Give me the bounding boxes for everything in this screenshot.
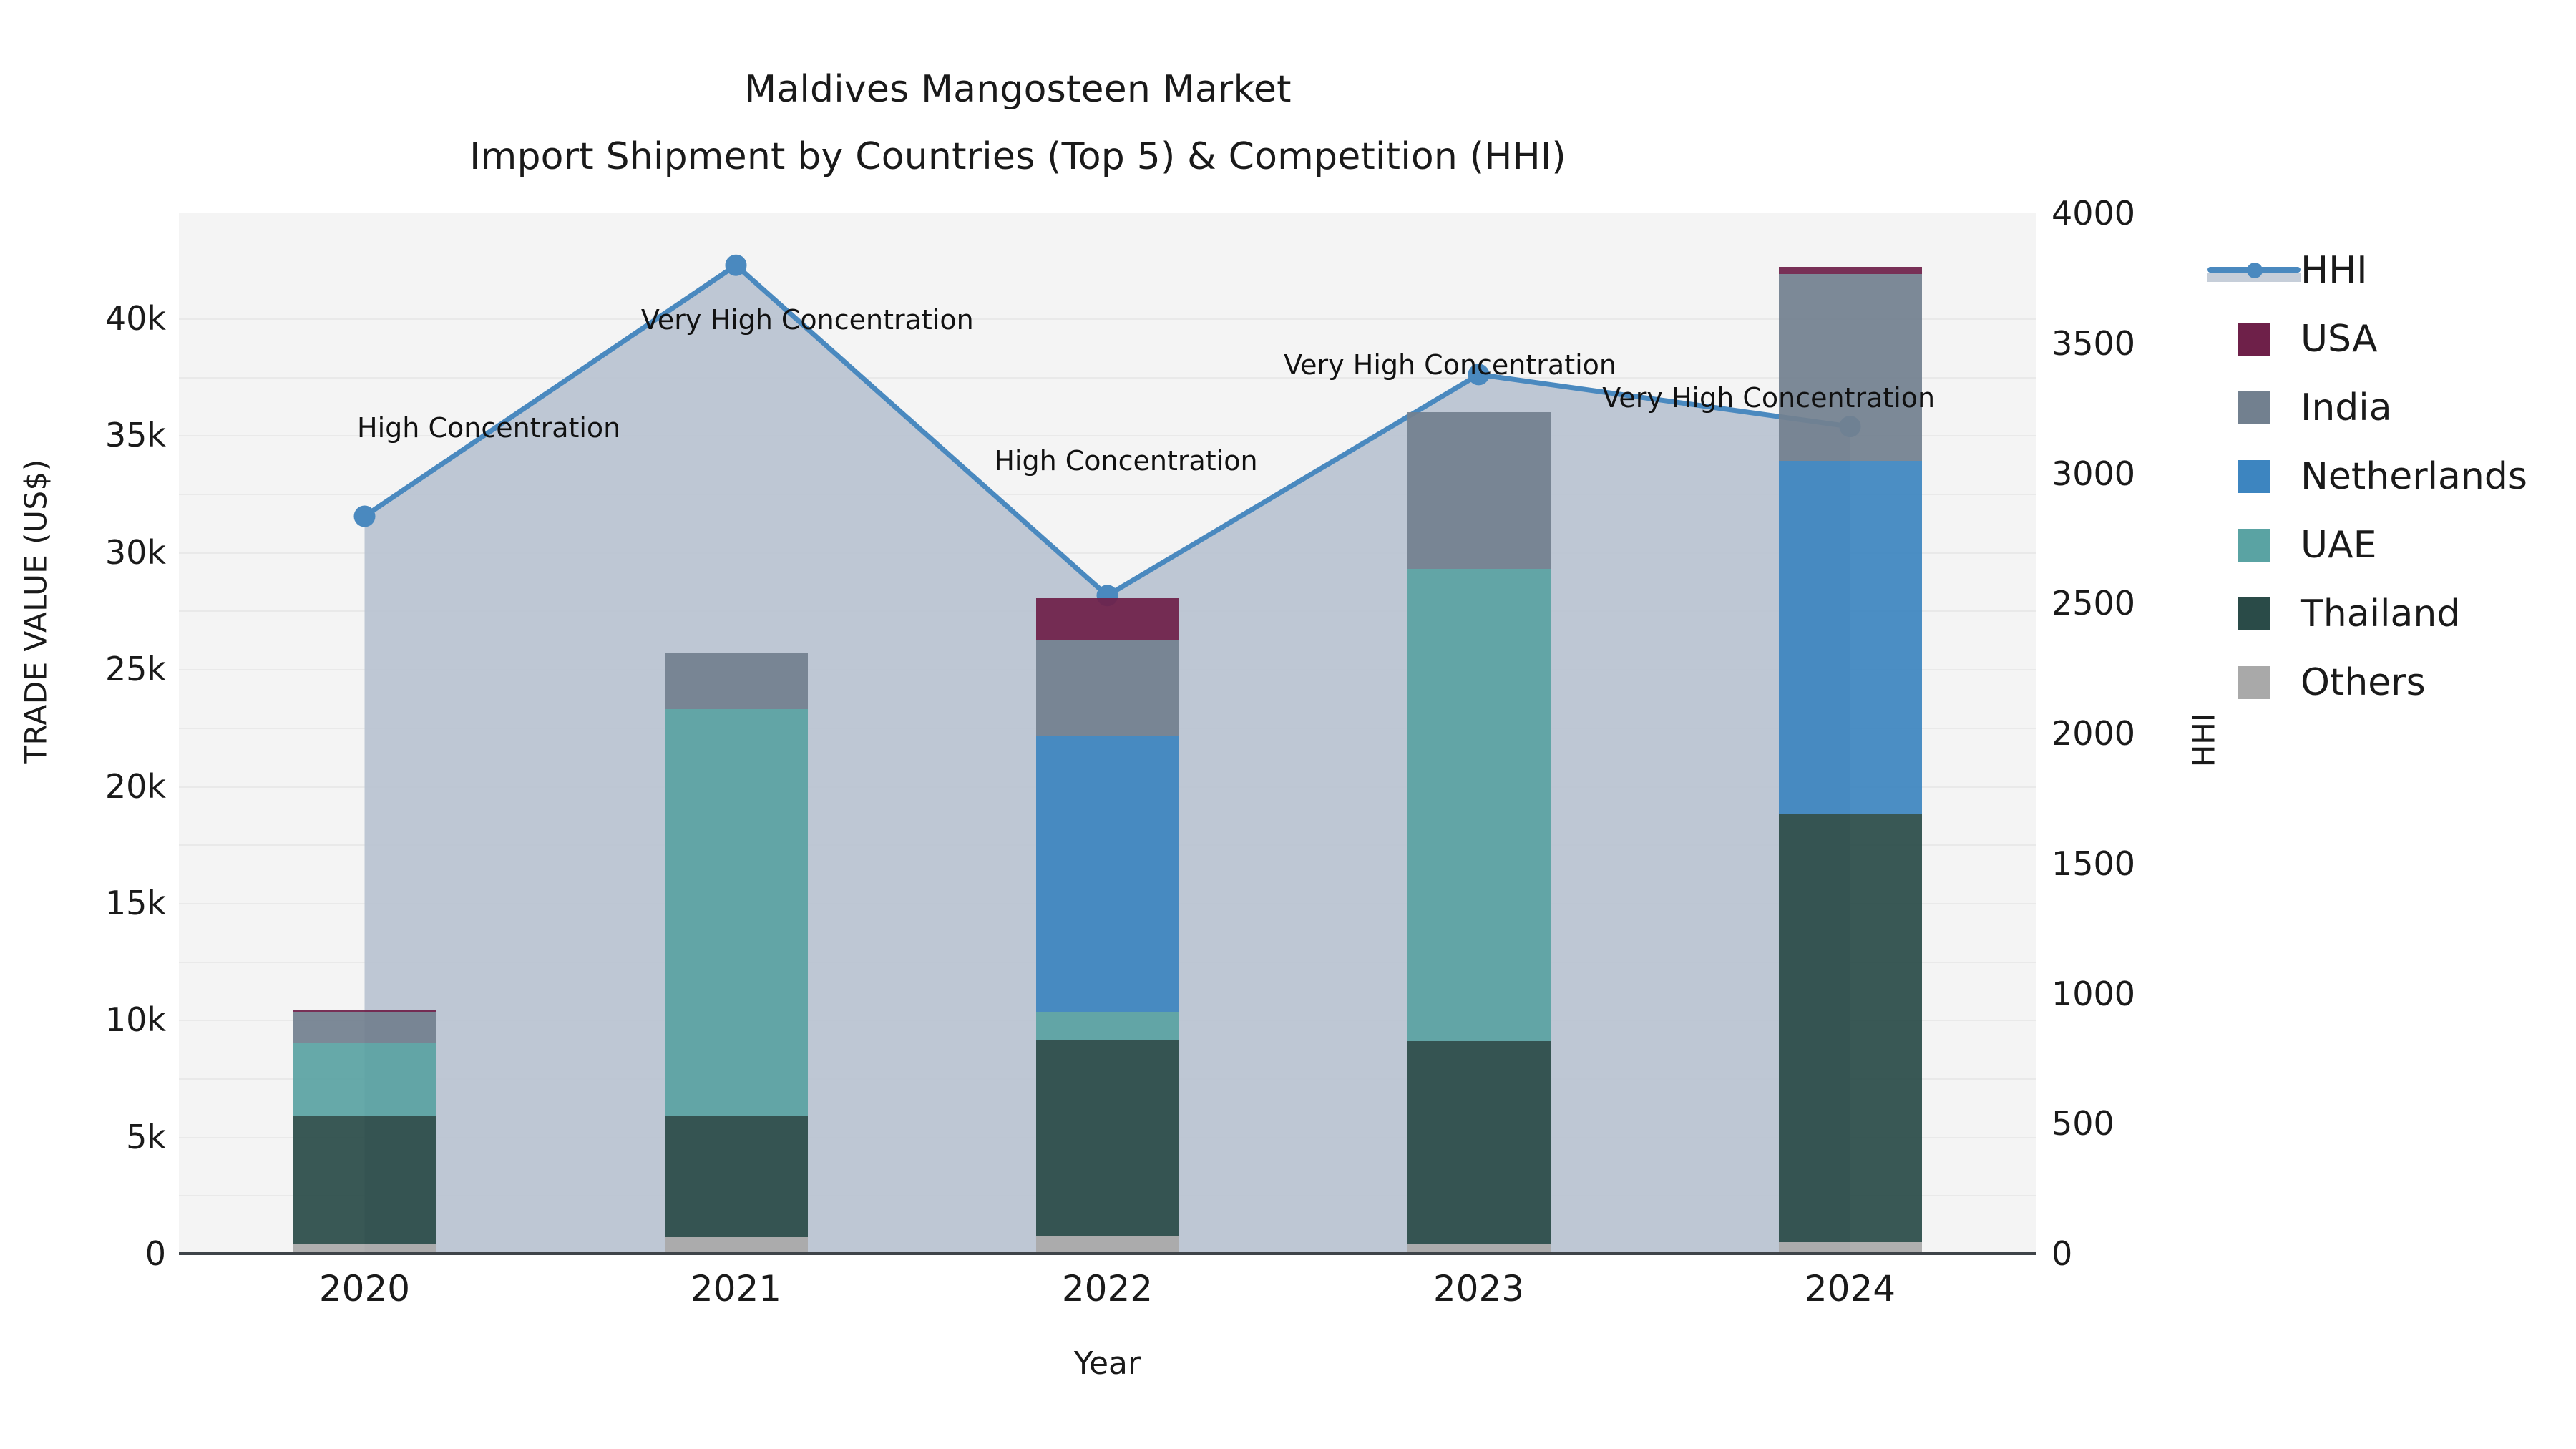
legend-label: UAE: [2301, 527, 2377, 564]
bar-segment-thailand[interactable]: [1779, 814, 1922, 1242]
y-axis-right-tick: 0: [2036, 1234, 2200, 1273]
x-axis-line: [179, 1252, 2036, 1255]
bar-segment-thailand[interactable]: [665, 1116, 808, 1237]
y-axis-left-tick: 15k: [14, 884, 179, 922]
color-swatch-icon: [2238, 323, 2270, 356]
bar-segment-uae[interactable]: [665, 709, 808, 1116]
annotation-label: High Concentration: [357, 412, 620, 444]
y-axis-right-tick: 4000: [2036, 194, 2200, 233]
y-axis-left-title: TRADE VALUE (US$): [19, 397, 54, 826]
bar-segment-usa[interactable]: [293, 1010, 436, 1012]
bar-segment-netherlands[interactable]: [1779, 461, 1922, 814]
bar-segment-uae[interactable]: [293, 1043, 436, 1116]
x-axis-tick-2023: 2023: [1372, 1268, 1586, 1309]
bar-segment-india[interactable]: [1036, 640, 1179, 736]
bar-segment-others[interactable]: [1036, 1236, 1179, 1254]
x-axis-tick-2020: 2020: [258, 1268, 472, 1309]
y-axis-right-tick: 3500: [2036, 324, 2200, 363]
color-swatch-icon: [2238, 460, 2270, 493]
bar-segment-india[interactable]: [293, 1012, 436, 1043]
legend-item-hhi[interactable]: HHI: [2207, 236, 2576, 305]
legend-label: Netherlands: [2301, 458, 2527, 495]
stacked-bars-layer: [179, 213, 2036, 1254]
legend-label: HHI: [2301, 252, 2368, 289]
y-axis-left-tick: 5k: [14, 1118, 179, 1156]
chart-legend: HHIUSAIndiaNetherlandsUAEThailandOthers: [2207, 236, 2576, 717]
color-swatch-icon: [2238, 391, 2270, 424]
bar-segment-india[interactable]: [1779, 274, 1922, 461]
y-axis-right-tick: 1500: [2036, 844, 2200, 883]
y-axis-left-tick: 40k: [14, 299, 179, 338]
legend-item-uae[interactable]: UAE: [2207, 511, 2576, 580]
chart-title-block: Maldives Mangosteen Market Import Shipme…: [0, 56, 2036, 190]
annotation-label: Very High Concentration: [641, 304, 974, 336]
legend-item-netherlands[interactable]: Netherlands: [2207, 442, 2576, 511]
bar-segment-thailand[interactable]: [1407, 1041, 1551, 1244]
annotation-label: Very High Concentration: [1284, 349, 1616, 381]
y-axis-right-tick: 2000: [2036, 714, 2200, 753]
legend-label: India: [2301, 389, 2392, 426]
x-axis-tick-2022: 2022: [1000, 1268, 1215, 1309]
bar-segment-netherlands[interactable]: [1036, 736, 1179, 1012]
bar-segment-uae[interactable]: [1036, 1012, 1179, 1040]
color-swatch-icon: [2238, 666, 2270, 699]
y-axis-left-tick: 0: [14, 1234, 179, 1273]
chart-title-primary: Maldives Mangosteen Market: [0, 56, 2036, 123]
stacked-bar-2024[interactable]: [1779, 213, 1922, 1254]
bar-segment-usa[interactable]: [1036, 598, 1179, 640]
bar-segment-thailand[interactable]: [1036, 1040, 1179, 1236]
chart-title-secondary: Import Shipment by Countries (Top 5) & C…: [0, 123, 2036, 190]
stacked-bar-2021[interactable]: [665, 213, 808, 1254]
y-axis-right-tick: 3000: [2036, 454, 2200, 493]
x-axis-title: Year: [179, 1345, 2036, 1382]
legend-label: Thailand: [2301, 595, 2460, 633]
stacked-bar-2022[interactable]: [1036, 213, 1179, 1254]
color-swatch-icon: [2238, 529, 2270, 562]
annotation-label: Very High Concentration: [1602, 382, 1935, 414]
y-axis-right-tick: 2500: [2036, 584, 2200, 623]
bar-segment-india[interactable]: [1407, 412, 1551, 569]
legend-label: USA: [2301, 321, 2378, 358]
x-axis-tick-2021: 2021: [629, 1268, 844, 1309]
y-axis-right-tick: 1000: [2036, 975, 2200, 1013]
legend-item-thailand[interactable]: Thailand: [2207, 580, 2576, 648]
color-swatch-icon: [2238, 597, 2270, 630]
line-marker-icon: [2207, 254, 2301, 287]
bar-segment-india[interactable]: [665, 653, 808, 708]
bar-segment-usa[interactable]: [1779, 267, 1922, 274]
y-axis-right-tick: 500: [2036, 1104, 2200, 1143]
legend-item-india[interactable]: India: [2207, 374, 2576, 442]
bar-segment-others[interactable]: [665, 1237, 808, 1254]
legend-item-usa[interactable]: USA: [2207, 305, 2576, 374]
stacked-bar-2020[interactable]: [293, 213, 436, 1254]
legend-item-others[interactable]: Others: [2207, 648, 2576, 717]
annotation-label: High Concentration: [994, 445, 1257, 477]
bar-segment-thailand[interactable]: [293, 1116, 436, 1244]
y-axis-left-tick: 10k: [14, 1000, 179, 1039]
x-axis-tick-2024: 2024: [1743, 1268, 1958, 1309]
bar-segment-uae[interactable]: [1407, 569, 1551, 1041]
legend-label: Others: [2301, 664, 2426, 701]
